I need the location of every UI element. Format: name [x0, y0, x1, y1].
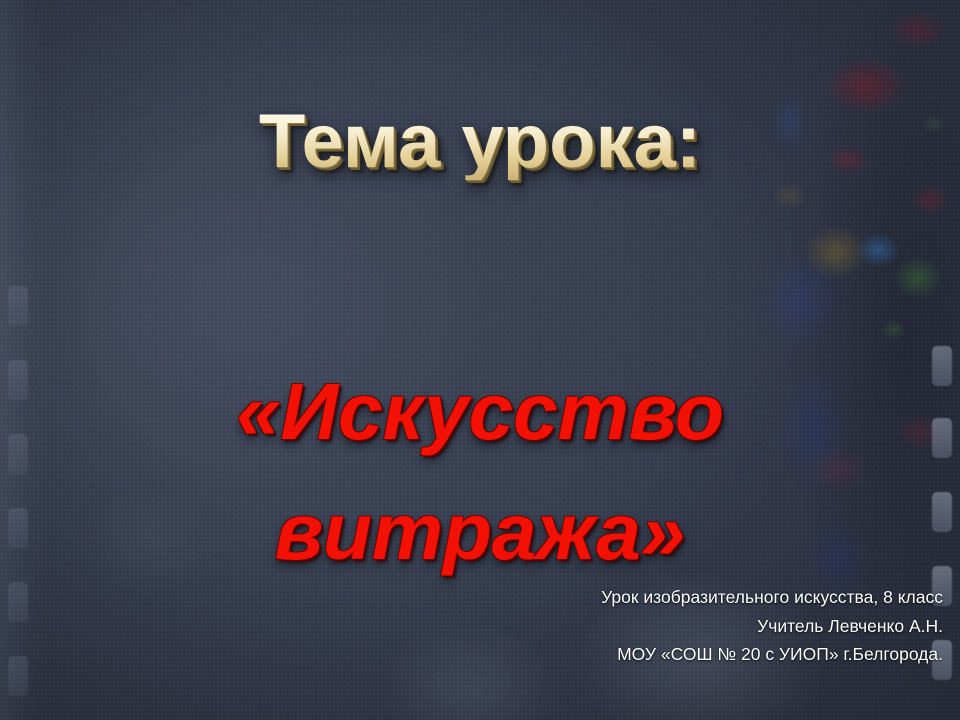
credits-line-teacher: Учитель Левченко А.Н. — [323, 612, 943, 641]
main-title-line-1: «Искусство — [0, 352, 960, 472]
credits-line-subject: Урок изобразительного искусства, 8 класс — [323, 583, 943, 612]
main-title-line-2: витража» — [0, 472, 960, 592]
presentation-slide: Тема урока: «Искусство витража» Урок изо… — [0, 0, 960, 720]
credits-line-school: МОУ «СОШ № 20 с УИОП» г.Белгорода. — [323, 640, 943, 669]
slide-heading: Тема урока: — [0, 104, 960, 180]
slide-main-title: «Искусство витража» — [0, 352, 960, 592]
slide-credits: Урок изобразительного искусства, 8 класс… — [323, 583, 943, 669]
